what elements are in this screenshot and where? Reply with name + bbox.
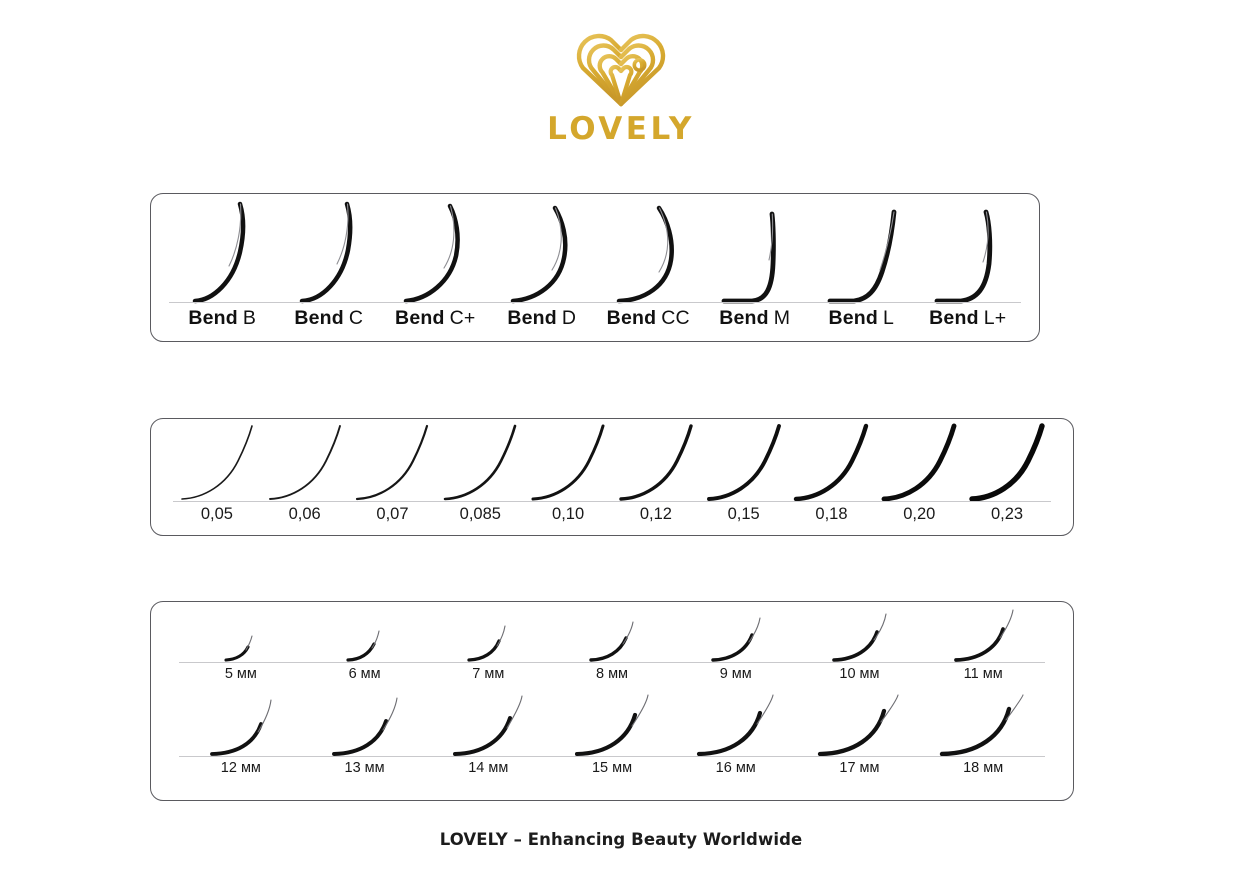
bend-label-l-plus: BendL+ — [915, 307, 1022, 330]
bend-label-strip: BendB BendC BendC+ BendD BendCC BendM Be… — [151, 307, 1039, 337]
lash-thickness-020 — [875, 425, 963, 501]
length-label: 16 мм — [674, 760, 798, 776]
lash-thickness-015 — [700, 425, 788, 501]
length-label: 14 мм — [426, 760, 550, 776]
bend-prefix: Bend — [719, 307, 769, 329]
bend-prefix: Bend — [395, 307, 445, 329]
bend-prefix: Bend — [188, 307, 238, 329]
bend-code: B — [243, 307, 256, 329]
length-label-strip-row2: 12 мм 13 мм 14 мм 15 мм 16 мм 17 мм 18 м… — [151, 760, 1073, 784]
bend-label-c-plus: BendC+ — [382, 307, 489, 330]
thickness-baseline — [173, 501, 1051, 502]
lash-thickness-018 — [788, 425, 876, 501]
lash-length-15mm — [550, 694, 674, 756]
length-label: 10 мм — [798, 666, 922, 682]
lash-length-13mm — [303, 694, 427, 756]
thickness-chart-panel: 0,05 0,06 0,07 0,085 0,10 0,12 0,15 0,18… — [150, 418, 1074, 536]
lash-length-17mm — [798, 694, 922, 756]
length-baseline-row2 — [179, 756, 1045, 757]
lash-thickness-0085 — [436, 425, 524, 501]
footer-tagline: LOVELY – Enhancing Beauty Worldwide — [0, 830, 1242, 849]
length-label: 5 мм — [179, 666, 303, 682]
lash-bend-d — [489, 202, 596, 302]
thickness-lash-strip — [151, 425, 1073, 501]
lash-thickness-023 — [963, 425, 1051, 501]
bend-code: L+ — [984, 307, 1007, 329]
lash-bend-c-plus — [382, 202, 489, 302]
lash-bend-m — [702, 202, 809, 302]
length-chart-panel: 5 мм 6 мм 7 мм 8 мм 9 мм 10 мм 11 мм — [150, 601, 1074, 801]
thickness-label: 0,23 — [963, 505, 1051, 524]
bend-baseline — [169, 302, 1021, 303]
brand-logo: LOVELY — [0, 28, 1242, 145]
length-label: 12 мм — [179, 760, 303, 776]
bend-code: CC — [661, 307, 690, 329]
bend-prefix: Bend — [294, 307, 344, 329]
length-label: 6 мм — [303, 666, 427, 682]
lash-length-6mm — [303, 606, 427, 662]
length-label: 13 мм — [303, 760, 427, 776]
length-label: 18 мм — [921, 760, 1045, 776]
thickness-label: 0,05 — [173, 505, 261, 524]
length-label: 9 мм — [674, 666, 798, 682]
length-baseline-row1 — [179, 662, 1045, 663]
lash-bend-c — [276, 202, 383, 302]
lash-thickness-007 — [349, 425, 437, 501]
length-label-strip-row1: 5 мм 6 мм 7 мм 8 мм 9 мм 10 мм 11 мм — [151, 666, 1073, 690]
thickness-label: 0,06 — [261, 505, 349, 524]
bend-label-c: BendC — [276, 307, 383, 330]
bend-code: L — [883, 307, 894, 329]
lash-length-5mm — [179, 606, 303, 662]
length-label: 8 мм — [550, 666, 674, 682]
lash-thickness-005 — [173, 425, 261, 501]
bend-code: D — [562, 307, 576, 329]
bend-prefix: Bend — [929, 307, 979, 329]
brand-wordmark: LOVELY — [0, 114, 1242, 145]
lash-thickness-010 — [524, 425, 612, 501]
thickness-label: 0,12 — [612, 505, 700, 524]
lash-length-16mm — [674, 694, 798, 756]
bend-label-b: BendB — [169, 307, 276, 330]
bend-label-d: BendD — [489, 307, 596, 330]
lash-bend-cc — [595, 202, 702, 302]
heart-loop-logo-icon — [569, 28, 673, 108]
thickness-label: 0,15 — [700, 505, 788, 524]
thickness-label: 0,10 — [524, 505, 612, 524]
lash-bend-l-plus — [915, 202, 1022, 302]
bend-prefix: Bend — [828, 307, 878, 329]
length-label: 15 мм — [550, 760, 674, 776]
lash-length-7mm — [426, 606, 550, 662]
lash-length-11mm — [921, 606, 1045, 662]
thickness-label-strip: 0,05 0,06 0,07 0,085 0,10 0,12 0,15 0,18… — [151, 505, 1073, 533]
length-label: 11 мм — [921, 666, 1045, 682]
lash-bend-b — [169, 202, 276, 302]
thickness-label: 0,18 — [788, 505, 876, 524]
lash-length-18mm — [921, 694, 1045, 756]
lash-thickness-012 — [612, 425, 700, 501]
bend-chart-panel: BendB BendC BendC+ BendD BendCC BendM Be… — [150, 193, 1040, 342]
bend-prefix: Bend — [507, 307, 557, 329]
bend-lash-strip — [151, 202, 1039, 302]
bend-label-m: BendM — [702, 307, 809, 330]
bend-code: C — [349, 307, 363, 329]
thickness-label: 0,20 — [875, 505, 963, 524]
lash-length-14mm — [426, 694, 550, 756]
lash-length-8mm — [550, 606, 674, 662]
bend-prefix: Bend — [607, 307, 657, 329]
bend-code: M — [774, 307, 790, 329]
length-label: 17 мм — [798, 760, 922, 776]
thickness-label: 0,085 — [436, 505, 524, 524]
lash-length-9mm — [674, 606, 798, 662]
lash-length-10mm — [798, 606, 922, 662]
length-lash-strip-row1 — [151, 606, 1073, 662]
bend-code: C+ — [450, 307, 476, 329]
bend-label-cc: BendCC — [595, 307, 702, 330]
length-label: 7 мм — [426, 666, 550, 682]
bend-label-l: BendL — [808, 307, 915, 330]
lash-bend-l — [808, 202, 915, 302]
bend-row: BendB BendC BendC+ BendD BendCC BendM Be… — [151, 194, 1039, 341]
lash-length-12mm — [179, 694, 303, 756]
thickness-label: 0,07 — [349, 505, 437, 524]
length-lash-strip-row2 — [151, 694, 1073, 756]
lash-thickness-006 — [261, 425, 349, 501]
